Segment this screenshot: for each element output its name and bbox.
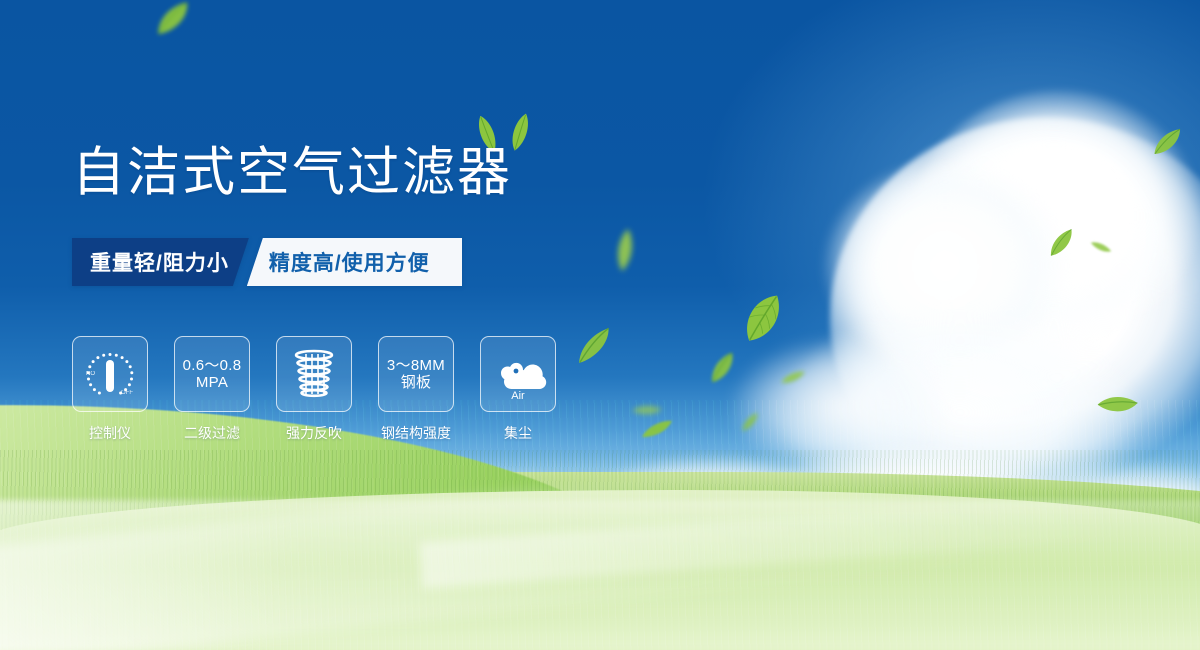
feature-icon-box: [276, 336, 352, 412]
feature-icon-box: Air: [480, 336, 556, 412]
feature-label: 集尘: [504, 423, 532, 443]
gauge-icon: NO OFF: [80, 344, 140, 404]
air-label: Air: [511, 390, 525, 402]
steel-line-2: 钢板: [387, 374, 445, 391]
feature-item-steel[interactable]: 3～8MM 钢板 钢结构强度: [378, 336, 454, 443]
feature-label: 二级过滤: [184, 423, 240, 443]
feature-label: 控制仪: [89, 423, 131, 443]
pressure-line-1: 0.6～0.8: [183, 357, 242, 374]
page-title: 自洁式空气过滤器: [72, 146, 512, 199]
subtitle-bar: 重量轻/阻力小 精度高/使用方便: [72, 238, 462, 286]
filter-cartridge-icon: [286, 346, 342, 402]
pressure-text-icon: 0.6～0.8 MPA: [183, 357, 242, 392]
feature-item-pressure[interactable]: 0.6～0.8 MPA 二级过滤: [174, 336, 250, 443]
air-cloud-icon: Air: [487, 344, 549, 404]
steel-text-icon: 3～8MM 钢板: [387, 357, 445, 392]
feature-icon-box: NO OFF: [72, 336, 148, 412]
feature-label: 强力反吹: [286, 423, 342, 443]
feature-item-control-gauge[interactable]: NO OFF 控制仪: [72, 336, 148, 443]
feature-icon-box: 3～8MM 钢板: [378, 336, 454, 412]
subtitle-segment-right: 精度高/使用方便: [247, 238, 462, 286]
pressure-line-2: MPA: [183, 374, 242, 391]
gauge-label-off: OFF: [121, 390, 133, 396]
gauge-label-no: NO: [86, 371, 95, 377]
feature-label: 钢结构强度: [381, 423, 451, 443]
product-banner: 自洁式空气过滤器 重量轻/阻力小 精度高/使用方便: [0, 0, 1200, 650]
feature-icon-box: 0.6～0.8 MPA: [174, 336, 250, 412]
feature-item-dust-collection[interactable]: Air 集尘: [480, 336, 556, 443]
feature-list: NO OFF 控制仪 0.6～0.8 MPA 二级过滤: [72, 336, 556, 443]
subtitle-segment-left: 重量轻/阻力小: [72, 238, 249, 286]
feature-item-backblow[interactable]: 强力反吹: [276, 336, 352, 443]
steel-line-1: 3～8MM: [387, 357, 445, 374]
